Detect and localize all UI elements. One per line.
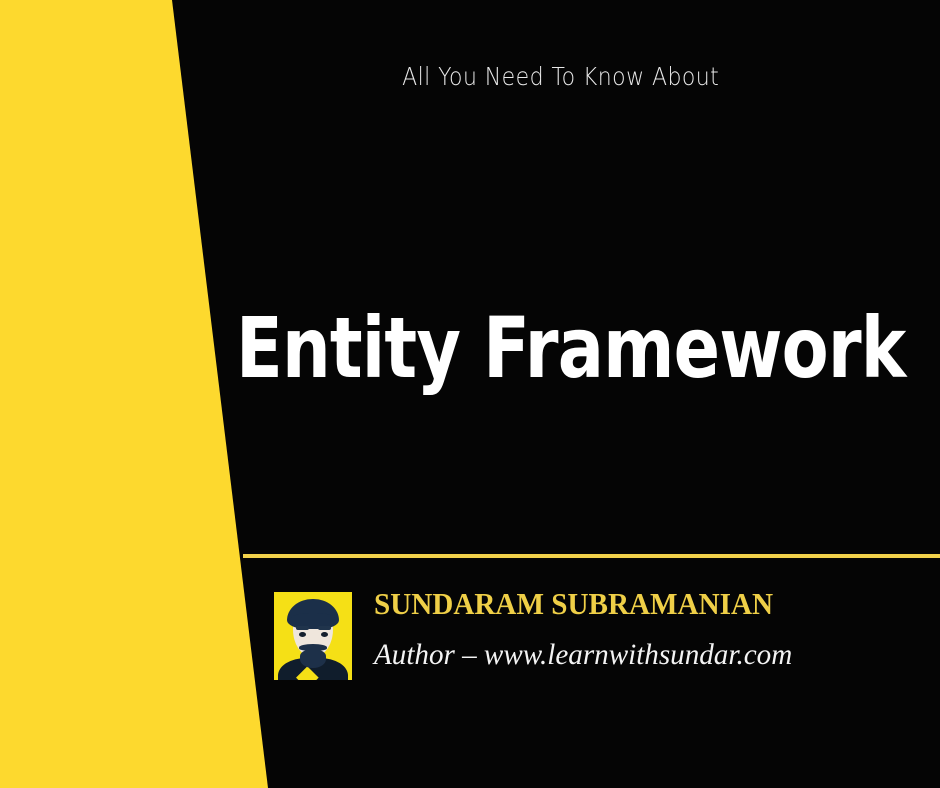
page-title: Entity Framework — [236, 306, 906, 390]
poster-canvas: All You Need To Know About Entity Framew… — [0, 0, 940, 788]
avatar-eyebrow-left — [296, 626, 309, 630]
avatar-eye-left — [299, 632, 306, 637]
kicker-text: All You Need To Know About — [56, 62, 883, 91]
author-text-group: SUNDARAM SUBRAMANIAN Author – www.learnw… — [374, 588, 805, 670]
avatar-eyebrow-right — [318, 626, 331, 630]
author-block: SUNDARAM SUBRAMANIAN Author – www.learnw… — [274, 588, 914, 688]
avatar-hair — [287, 599, 339, 629]
avatar-beard — [300, 650, 326, 668]
horizontal-divider — [243, 554, 940, 558]
author-name: SUNDARAM SUBRAMANIAN — [374, 588, 779, 619]
avatar-eye-right — [321, 632, 328, 637]
author-role-and-website: Author – www.learnwithsundar.com — [374, 640, 792, 670]
title-container: Entity Framework — [236, 300, 908, 396]
avatar — [274, 592, 352, 680]
